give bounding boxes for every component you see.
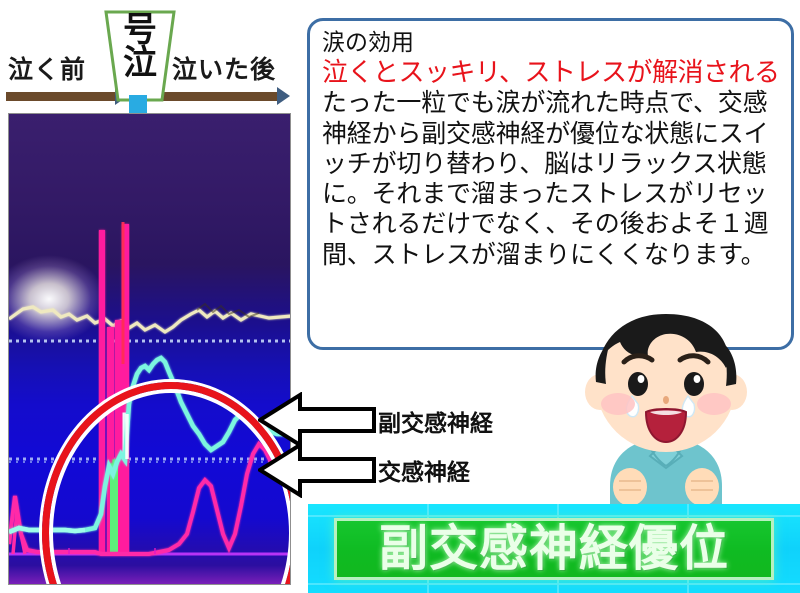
event-label-line2: 泣 [92,47,188,80]
result-banner-text: 副交感神経優位 [379,525,729,574]
textbox-title: 涙の効用 [322,29,781,57]
callout-label-parasympathetic: 副交感神経 [378,404,493,438]
left-arrow-icon [258,442,376,503]
crying-happy-boy-illustration [562,300,770,528]
result-banner: 副交感神経優位 [308,504,800,593]
textbox-highlight: 泣くとスッキリ、ストレスが解消される [322,57,781,89]
result-banner-plate: 副交感神経優位 [334,518,774,580]
event-marker-gokyu: 号 泣 [92,8,188,104]
infographic-root: 泣く前 泣いた後 号 泣 [0,0,800,593]
event-marker-label: 号 泣 [92,14,188,79]
autonomic-nerve-chart: 12:30:17 12:30:51 [8,113,291,585]
chart-traces [9,114,291,585]
callout-label-sympathetic: 交感神経 [378,453,470,487]
event-label-line1: 号 [92,14,188,47]
timeline-label-before: 泣く前 [8,50,86,86]
textbox-body: たった一粒でも涙が流れた時点で、交感神経から副交感神経が優位な状態にスイッチが切… [322,88,781,270]
